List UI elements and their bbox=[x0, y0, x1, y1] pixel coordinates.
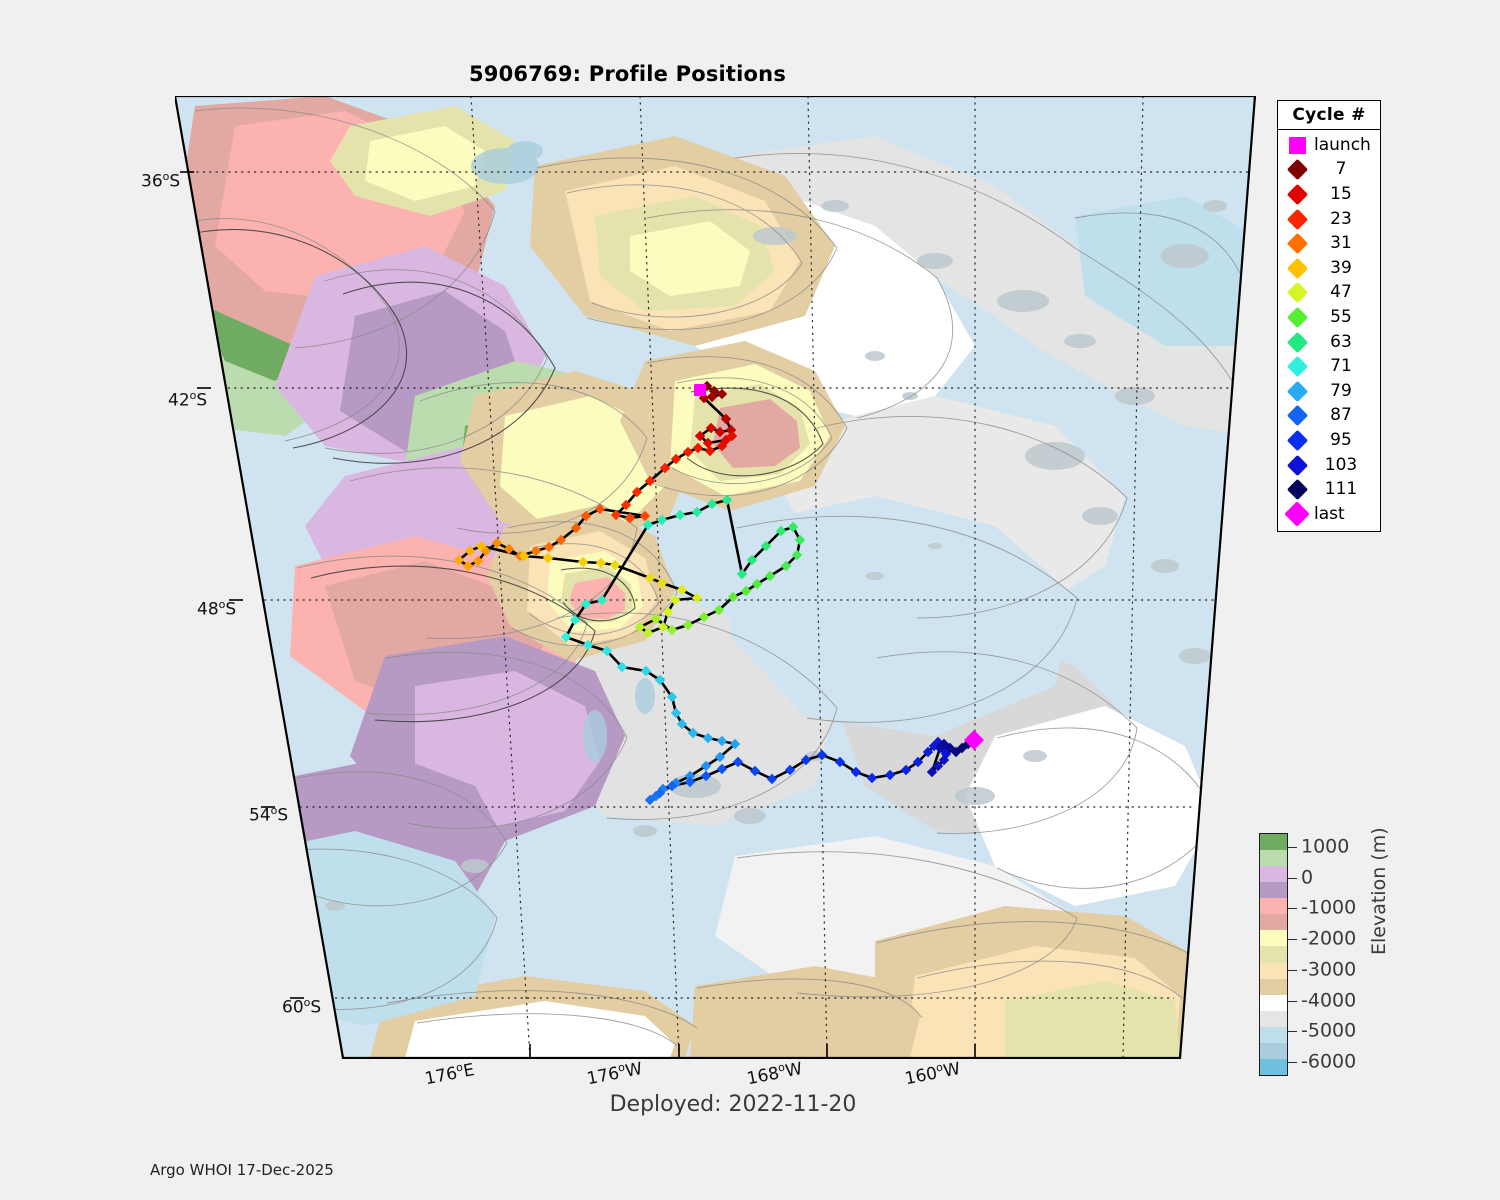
legend-label-7: 7 bbox=[1310, 161, 1374, 178]
legend-item-95[interactable]: 95 bbox=[1278, 428, 1380, 453]
legend-marker-87-icon bbox=[1284, 408, 1310, 423]
colorbar-tick--5000 bbox=[1288, 1031, 1297, 1032]
elevation-colorbar[interactable] bbox=[1259, 833, 1288, 1076]
colorbar-band-3 bbox=[1260, 882, 1287, 898]
colorbar-label--3000: -3000 bbox=[1301, 960, 1356, 979]
colorbar-tick-1000 bbox=[1288, 847, 1297, 848]
legend-marker-23-icon bbox=[1284, 212, 1310, 227]
legend-item-23[interactable]: 23 bbox=[1278, 207, 1380, 232]
colorbar-axis-title: Elevation (m) bbox=[1368, 827, 1390, 955]
colorbar-tick--6000 bbox=[1288, 1062, 1297, 1063]
colorbar-label-1000: 1000 bbox=[1301, 838, 1349, 857]
colorbar-band-13 bbox=[1260, 1043, 1287, 1059]
colorbar-band-12 bbox=[1260, 1027, 1287, 1043]
legend-label-55: 55 bbox=[1310, 309, 1374, 326]
lat-tick-60: 60oS bbox=[282, 996, 321, 1018]
legend-item-47[interactable]: 47 bbox=[1278, 281, 1380, 306]
legend-marker-71-icon bbox=[1284, 359, 1310, 374]
colorbar-band-10 bbox=[1260, 995, 1287, 1011]
colorbar-band-5 bbox=[1260, 914, 1287, 930]
legend-marker-47-icon bbox=[1284, 285, 1310, 300]
colorbar-band-8 bbox=[1260, 963, 1287, 979]
map-canvas[interactable] bbox=[175, 96, 1257, 1059]
colorbar-band-6 bbox=[1260, 930, 1287, 946]
legend-label-87: 87 bbox=[1310, 407, 1374, 424]
credit-text: Argo WHOI 17-Dec-2025 bbox=[150, 1161, 334, 1179]
legend-label-last: last bbox=[1310, 506, 1374, 523]
lat-tick-42: 42oS bbox=[168, 389, 207, 411]
legend-item-87[interactable]: 87 bbox=[1278, 404, 1380, 429]
colorbar-tick-0 bbox=[1288, 878, 1297, 879]
colorbar-tick--3000 bbox=[1288, 970, 1297, 971]
colorbar-band-14 bbox=[1260, 1059, 1287, 1075]
legend-item-last[interactable]: last bbox=[1278, 502, 1380, 527]
legend-label-103: 103 bbox=[1310, 457, 1374, 474]
colorbar-label--2000: -2000 bbox=[1301, 930, 1356, 949]
legend-marker-39-icon bbox=[1284, 261, 1310, 276]
legend-items[interactable]: launch71523313947556371798795103111last bbox=[1278, 130, 1380, 531]
legend-label-111: 111 bbox=[1310, 481, 1374, 498]
colorbar-tick--1000 bbox=[1288, 908, 1297, 909]
legend-marker-7-icon bbox=[1284, 162, 1310, 177]
legend-item-103[interactable]: 103 bbox=[1278, 453, 1380, 478]
legend-item-63[interactable]: 63 bbox=[1278, 330, 1380, 355]
page-title: 5906769: Profile Positions bbox=[0, 62, 1255, 86]
colorbar-label--4000: -4000 bbox=[1301, 991, 1356, 1010]
lat-tick-36: 36oS bbox=[141, 170, 180, 192]
colorbar-band-2 bbox=[1260, 866, 1287, 882]
legend-title: Cycle # bbox=[1278, 101, 1380, 130]
map-panel[interactable] bbox=[175, 96, 1257, 1059]
colorbar-band-0 bbox=[1260, 834, 1287, 850]
legend-label-95: 95 bbox=[1310, 432, 1374, 449]
legend-item-79[interactable]: 79 bbox=[1278, 379, 1380, 404]
legend-marker-31-icon bbox=[1284, 236, 1310, 251]
map-bathymetry-layer bbox=[175, 96, 1257, 1059]
legend-marker-launch-icon bbox=[1284, 137, 1310, 154]
lon-tick-176E: 176oE bbox=[423, 1058, 476, 1089]
lon-tick-168W: 168oW bbox=[745, 1057, 804, 1089]
legend-marker-15-icon bbox=[1284, 187, 1310, 202]
legend-marker-79-icon bbox=[1284, 384, 1310, 399]
deployed-caption: Deployed: 2022-11-20 bbox=[0, 1092, 1466, 1117]
legend-marker-63-icon bbox=[1284, 335, 1310, 350]
legend-label-launch: launch bbox=[1310, 137, 1374, 154]
lat-tick-48: 48oS bbox=[197, 598, 236, 620]
legend-label-79: 79 bbox=[1310, 383, 1374, 400]
legend-marker-103-icon bbox=[1284, 458, 1310, 473]
colorbar-band-1 bbox=[1260, 850, 1287, 866]
legend-item-31[interactable]: 31 bbox=[1278, 231, 1380, 256]
legend-item-55[interactable]: 55 bbox=[1278, 305, 1380, 330]
legend-marker-last-icon bbox=[1284, 505, 1310, 523]
legend-label-39: 39 bbox=[1310, 260, 1374, 277]
legend-item-15[interactable]: 15 bbox=[1278, 182, 1380, 207]
lon-tick-160W: 160oW bbox=[903, 1057, 962, 1089]
colorbar-label--6000: -6000 bbox=[1301, 1053, 1356, 1072]
legend-item-71[interactable]: 71 bbox=[1278, 354, 1380, 379]
lat-tick-54: 54oS bbox=[249, 804, 288, 826]
colorbar-label--5000: -5000 bbox=[1301, 1022, 1356, 1041]
legend-item-111[interactable]: 111 bbox=[1278, 477, 1380, 502]
colorbar-label--1000: -1000 bbox=[1301, 899, 1356, 918]
legend-item-7[interactable]: 7 bbox=[1278, 158, 1380, 183]
colorbar-band-7 bbox=[1260, 946, 1287, 962]
legend-label-31: 31 bbox=[1310, 235, 1374, 252]
legend-item-39[interactable]: 39 bbox=[1278, 256, 1380, 281]
cycle-legend[interactable]: Cycle # launch71523313947556371798795103… bbox=[1277, 100, 1381, 532]
legend-item-launch[interactable]: launch bbox=[1278, 133, 1380, 158]
colorbar-band-9 bbox=[1260, 979, 1287, 995]
legend-label-47: 47 bbox=[1310, 284, 1374, 301]
legend-label-71: 71 bbox=[1310, 358, 1374, 375]
colorbar-band-11 bbox=[1260, 1011, 1287, 1027]
legend-marker-111-icon bbox=[1284, 482, 1310, 497]
colorbar-label-0: 0 bbox=[1301, 868, 1313, 887]
colorbar-tick--2000 bbox=[1288, 939, 1297, 940]
legend-label-23: 23 bbox=[1310, 211, 1374, 228]
launch-marker[interactable] bbox=[694, 384, 706, 396]
colorbar-tick--4000 bbox=[1288, 1001, 1297, 1002]
lon-tick-176W: 176oW bbox=[585, 1057, 644, 1089]
legend-label-15: 15 bbox=[1310, 186, 1374, 203]
legend-label-63: 63 bbox=[1310, 334, 1374, 351]
legend-marker-95-icon bbox=[1284, 433, 1310, 448]
colorbar-band-4 bbox=[1260, 898, 1287, 914]
legend-marker-55-icon bbox=[1284, 310, 1310, 325]
